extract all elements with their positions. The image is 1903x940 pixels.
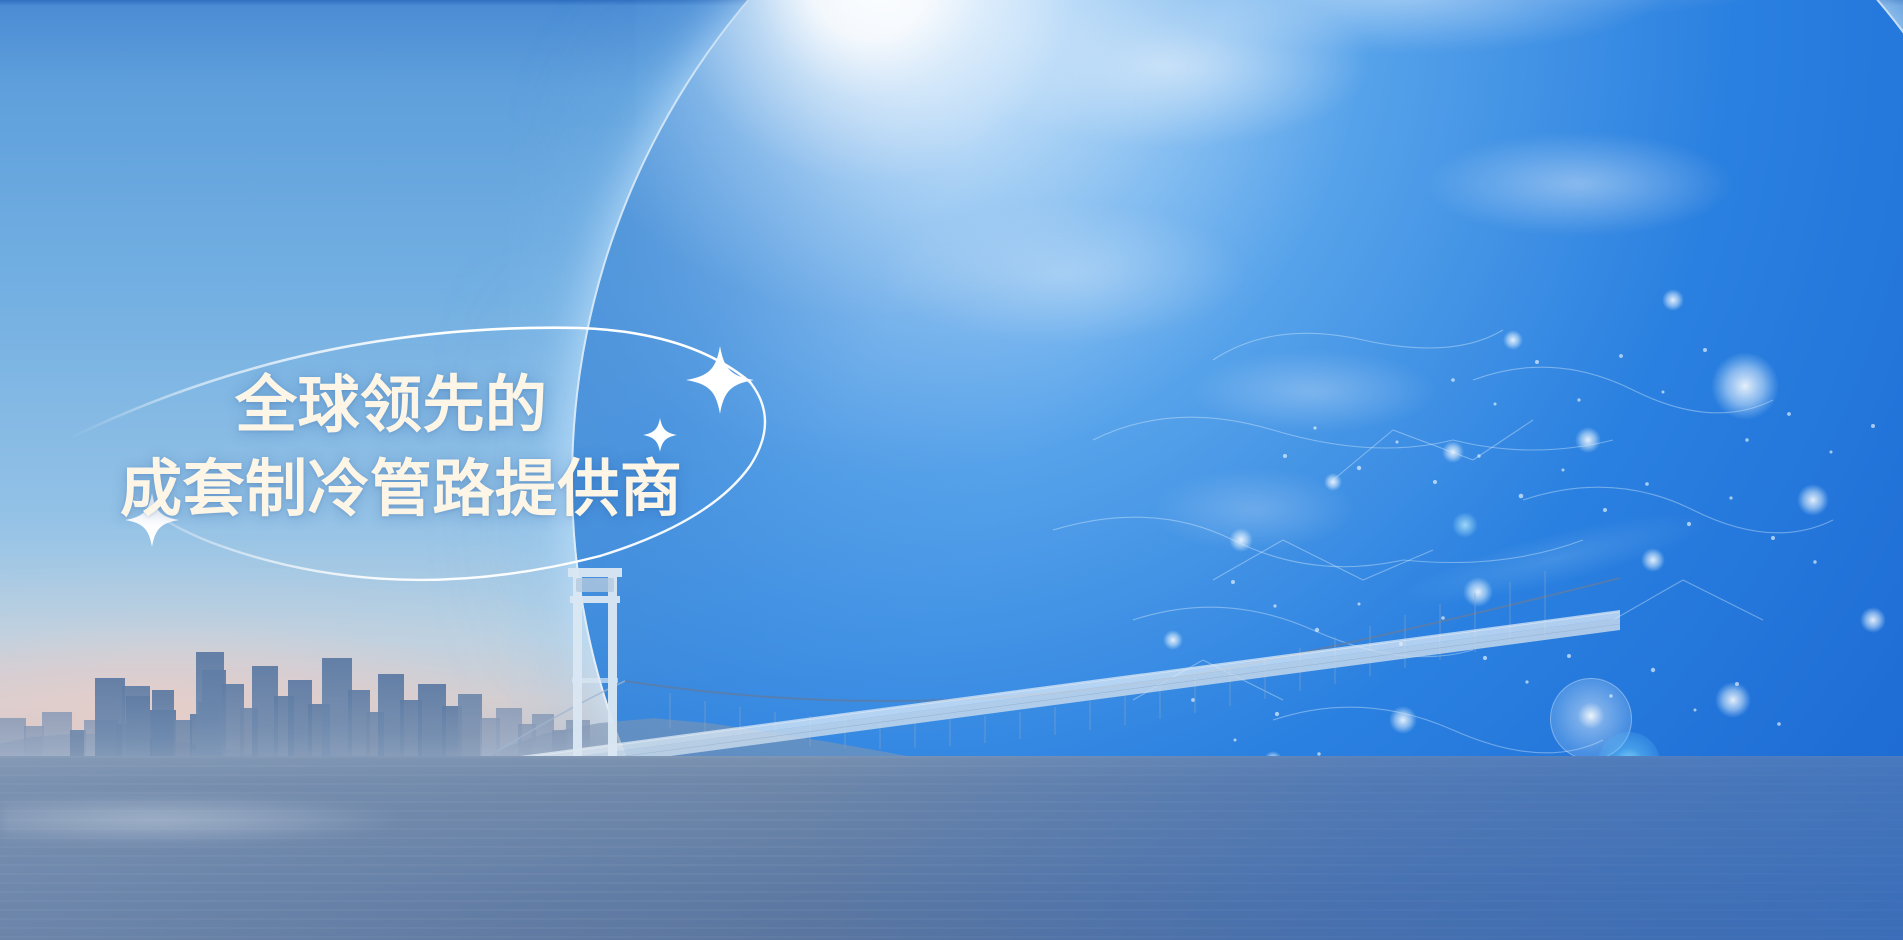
headline-line-1: 全球领先的	[235, 368, 682, 444]
headline-line-2: 成套制冷管路提供商	[120, 452, 682, 528]
hero-banner: 全球领先的 成套制冷管路提供商	[0, 0, 1903, 940]
hero-headline: 全球领先的 成套制冷管路提供商	[120, 368, 682, 527]
water-sheen	[0, 790, 520, 850]
